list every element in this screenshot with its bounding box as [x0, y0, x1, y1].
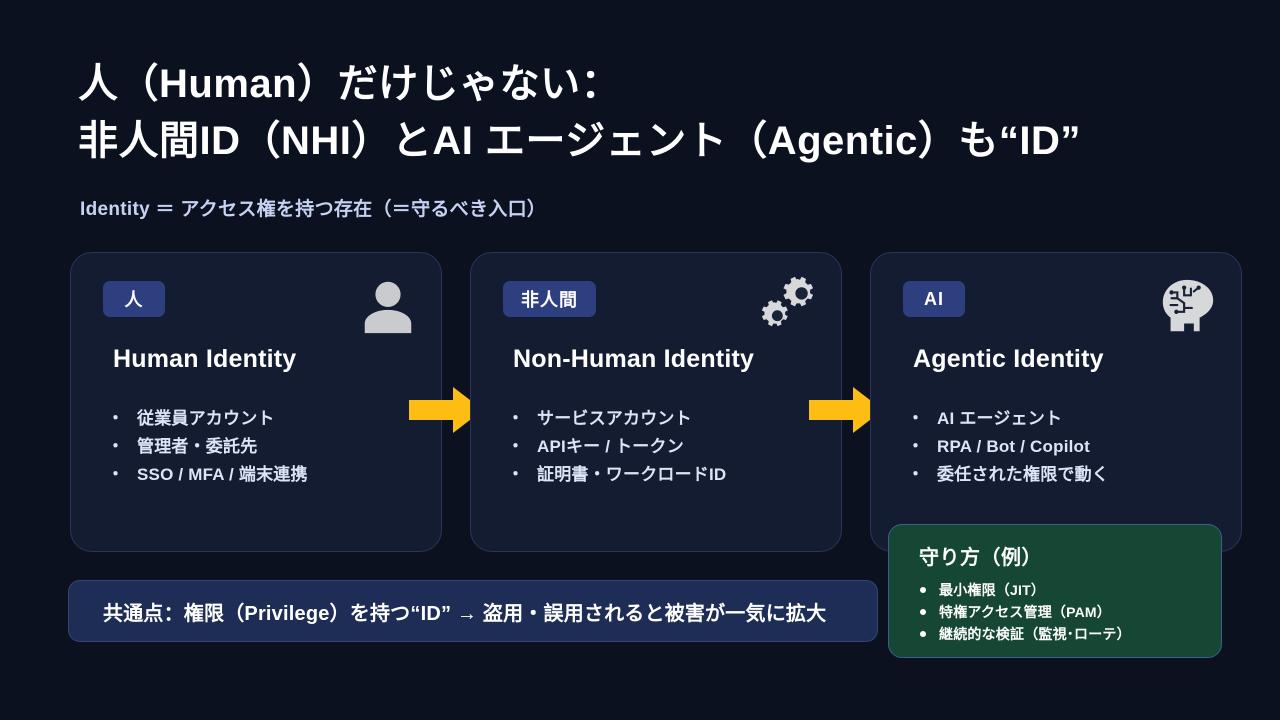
- callout-title: 守り方（例）: [919, 541, 1042, 570]
- list-item: SSO / MFA / 端末連携: [107, 461, 423, 489]
- list-item: サービスアカウント: [507, 405, 823, 433]
- summary-banner: 共通点：権限（Privilege）を持つ“ID” → 盗用・誤用されると被害が一…: [68, 580, 878, 642]
- bullet-list-non-human: サービスアカウント APIキー / トークン 証明書・ワークロードID: [507, 405, 823, 489]
- badge-non-human: 非人間: [503, 281, 596, 317]
- callout-list: 最小権限（JIT） 特権アクセス管理（PAM） 継続的な検証（監視･ローテ）: [917, 579, 1131, 645]
- list-item: 証明書・ワークロードID: [507, 461, 823, 489]
- subtitle: Identity ＝ アクセス権を持つ存在（＝守るべき入口）: [80, 194, 546, 221]
- summary-banner-text: 共通点：権限（Privilege）を持つ“ID” → 盗用・誤用されると被害が一…: [69, 597, 826, 626]
- card-title-agentic: Agentic Identity: [913, 345, 1104, 374]
- list-item: AI エージェント: [907, 405, 1223, 433]
- mitigation-callout: 守り方（例） 最小権限（JIT） 特権アクセス管理（PAM） 継続的な検証（監視…: [888, 524, 1222, 658]
- list-item: 特権アクセス管理（PAM）: [917, 601, 1131, 623]
- badge-human: 人: [103, 281, 165, 317]
- ai-head-icon: [1157, 275, 1219, 337]
- list-item: 最小権限（JIT）: [917, 579, 1131, 601]
- card-human-identity[interactable]: 人 Human Identity 従業員アカウント 管理者・委託先 SSO / …: [70, 252, 442, 552]
- bullet-list-human: 従業員アカウント 管理者・委託先 SSO / MFA / 端末連携: [107, 405, 423, 489]
- badge-ai: AI: [903, 281, 965, 317]
- list-item: RPA / Bot / Copilot: [907, 433, 1223, 461]
- list-item: 委任された権限で動く: [907, 461, 1223, 489]
- list-item: APIキー / トークン: [507, 433, 823, 461]
- gears-icon: [757, 275, 819, 337]
- person-icon: [357, 275, 419, 337]
- card-title-human: Human Identity: [113, 345, 296, 374]
- card-agentic-identity[interactable]: AI Agentic Identity: [870, 252, 1242, 552]
- page-title: 人（Human）だけじゃない： 非人間ID（NHI）とAI エージェント（Age…: [78, 56, 1238, 170]
- card-non-human-identity[interactable]: 非人間 Non-Human Identity サービスアカウント APIキー /…: [470, 252, 842, 552]
- list-item: 従業員アカウント: [107, 405, 423, 433]
- bullet-list-agentic: AI エージェント RPA / Bot / Copilot 委任された権限で動く: [907, 405, 1223, 489]
- list-item: 継続的な検証（監視･ローテ）: [917, 623, 1131, 645]
- slide-root: 人（Human）だけじゃない： 非人間ID（NHI）とAI エージェント（Age…: [0, 0, 1280, 720]
- list-item: 管理者・委託先: [107, 433, 423, 461]
- card-title-non-human: Non-Human Identity: [513, 345, 754, 374]
